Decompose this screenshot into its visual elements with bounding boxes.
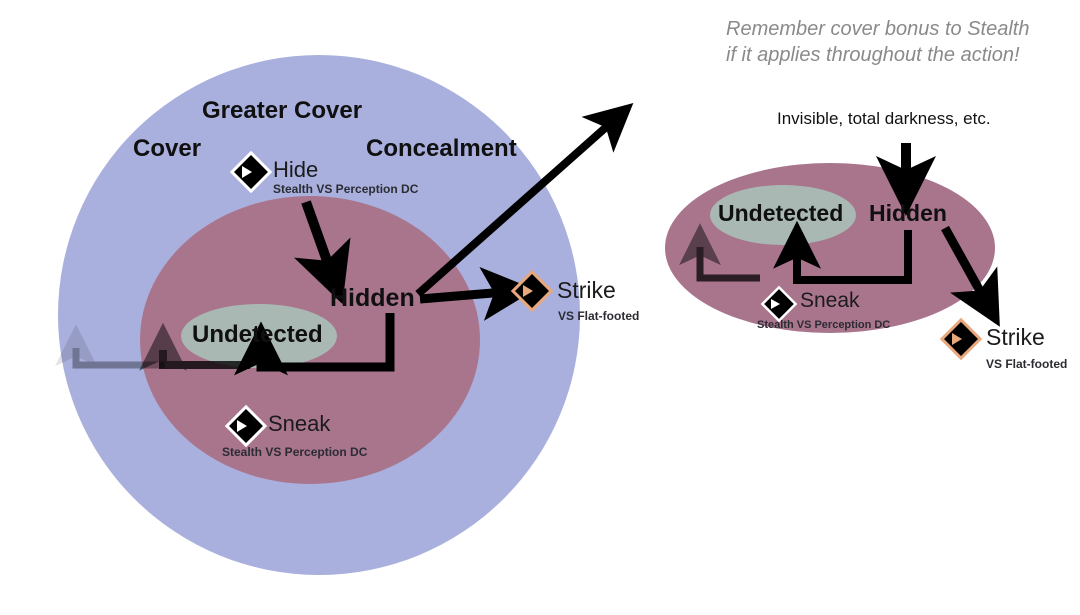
right-caption-invisible-darkness: Invisible, total darkness, etc. bbox=[777, 110, 991, 128]
right-action-sneak: Sneak bbox=[800, 290, 860, 312]
zone-label-cover: Cover bbox=[133, 136, 201, 161]
cover-bonus-note: Remember cover bonus to Stealth if it ap… bbox=[726, 16, 1030, 69]
right-action-strike: Strike bbox=[986, 325, 1045, 349]
action-hide-name: Hide bbox=[273, 158, 418, 181]
action-strike-name: Strike bbox=[557, 278, 616, 302]
action-hide-sub: Stealth VS Perception DC bbox=[273, 183, 418, 196]
right-action-sneak-name: Sneak bbox=[800, 290, 860, 312]
right-action-sneak-sub: Stealth VS Perception DC bbox=[757, 320, 890, 332]
right-action-strike-name: Strike bbox=[986, 325, 1045, 349]
right-state-label-hidden: Hidden bbox=[869, 201, 947, 225]
action-sneak: Sneak bbox=[268, 412, 330, 435]
state-label-hidden: Hidden bbox=[330, 285, 415, 311]
action-sneak-name: Sneak bbox=[268, 412, 330, 435]
cover-bonus-note-line2: if it applies throughout the action! bbox=[726, 42, 1030, 68]
right-state-label-undetected: Undetected bbox=[718, 201, 843, 225]
action-strike-sub: VS Flat-footed bbox=[558, 310, 639, 323]
diagram-canvas: Remember cover bonus to Stealth if it ap… bbox=[0, 0, 1080, 615]
right-action-strike-sub: VS Flat-footed bbox=[986, 358, 1067, 371]
zone-label-greater-cover: Greater Cover bbox=[202, 98, 362, 123]
action-strike: Strike bbox=[557, 278, 616, 302]
state-label-undetected: Undetected bbox=[192, 322, 323, 347]
left-zone-shapes bbox=[58, 55, 580, 575]
action-sneak-sub: Stealth VS Perception DC bbox=[222, 446, 367, 459]
cover-bonus-note-line1: Remember cover bonus to Stealth bbox=[726, 16, 1030, 42]
diagram-graphics bbox=[0, 0, 1080, 615]
right-strike-action-icon bbox=[940, 318, 982, 360]
action-hide: Hide Stealth VS Perception DC bbox=[273, 158, 418, 196]
